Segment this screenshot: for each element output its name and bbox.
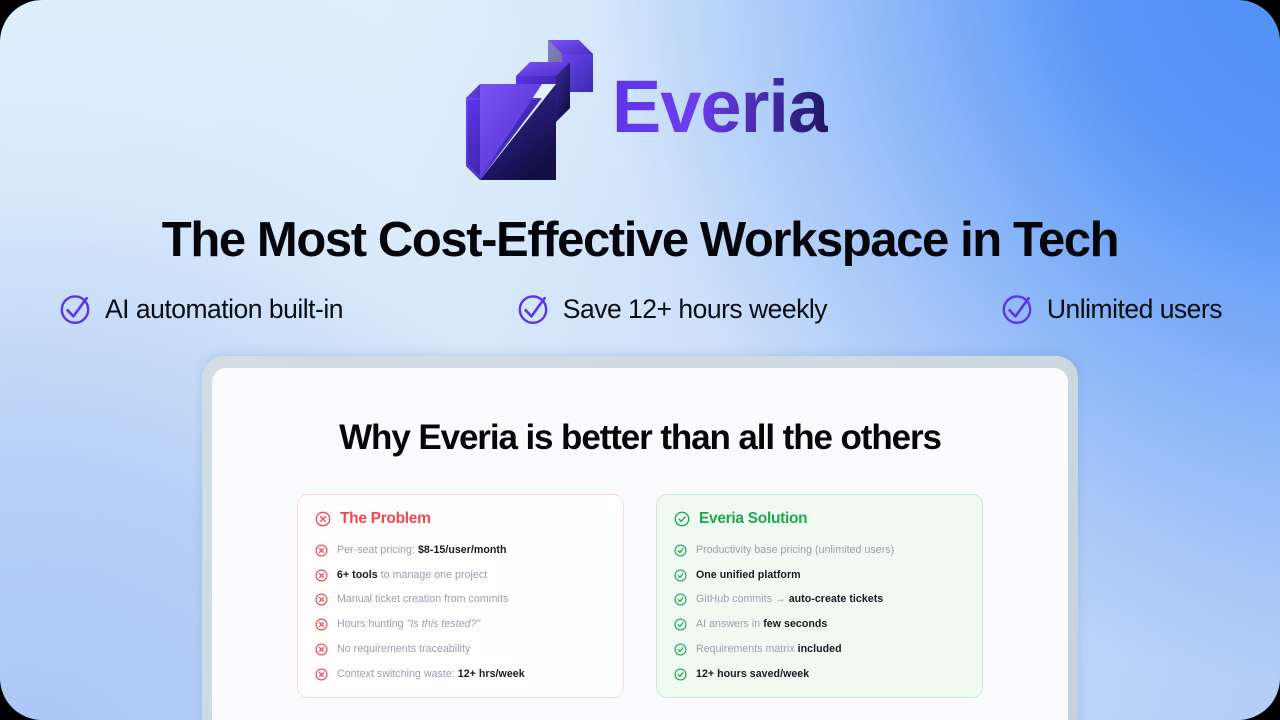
list-item-text: Requirements matrix included [696, 642, 842, 656]
brand-name: Everia [612, 70, 828, 150]
list-item-text: Hours hunting "Is this tested?" [337, 617, 480, 631]
list-item: Productivity base pricing (unlimited use… [674, 543, 965, 557]
feature-item: AI automation built-in [58, 292, 343, 326]
problem-card: The Problem Per-seat pricing: $8-15/user… [297, 494, 624, 698]
list-item-text: AI answers in few seconds [696, 617, 827, 631]
circle-x-icon [315, 668, 328, 681]
list-item-text: Manual ticket creation from commits [337, 592, 508, 606]
circle-x-icon [315, 544, 328, 557]
feature-label: Save 12+ hours weekly [563, 294, 827, 325]
list-item: Context switching waste: 12+ hrs/week [315, 667, 606, 681]
list-item: GitHub commits → auto-create tickets [674, 592, 965, 606]
panel-heading: Why Everia is better than all the others [0, 418, 1280, 458]
circle-check-icon [674, 643, 687, 656]
comparison-cards: The Problem Per-seat pricing: $8-15/user… [297, 494, 983, 698]
list-item: 6+ tools to manage one project [315, 568, 606, 582]
feature-label: AI automation built-in [105, 294, 343, 325]
list-item: No requirements traceability [315, 642, 606, 656]
solution-card-header: Everia Solution [674, 510, 965, 528]
feature-item: Unlimited users [1000, 292, 1222, 326]
promo-slide: Everia The Most Cost-Effective Workspace… [0, 0, 1280, 720]
list-item-text: 6+ tools to manage one project [337, 568, 487, 582]
list-item-text: Per-seat pricing: $8-15/user/month [337, 543, 507, 557]
page-title: The Most Cost-Effective Workspace in Tec… [0, 212, 1280, 268]
feature-list: AI automation built-in Save 12+ hours we… [58, 292, 1222, 326]
list-item: Hours hunting "Is this tested?" [315, 617, 606, 631]
list-item-text: One unified platform [696, 568, 801, 582]
list-item-text: Productivity base pricing (unlimited use… [696, 543, 894, 557]
circle-check-icon [674, 618, 687, 631]
circle-check-icon [674, 593, 687, 606]
everia-isometric-logo-icon [452, 34, 600, 186]
circle-x-icon [315, 511, 331, 527]
list-item: One unified platform [674, 568, 965, 582]
list-item: Manual ticket creation from commits [315, 592, 606, 606]
brand-lockup: Everia [0, 34, 1280, 186]
list-item: AI answers in few seconds [674, 617, 965, 631]
list-item: Per-seat pricing: $8-15/user/month [315, 543, 606, 557]
list-item: Requirements matrix included [674, 642, 965, 656]
circle-x-icon [315, 569, 328, 582]
circle-check-icon [674, 569, 687, 582]
circle-x-icon [315, 593, 328, 606]
feature-item: Save 12+ hours weekly [516, 292, 827, 326]
feature-label: Unlimited users [1047, 294, 1222, 325]
circle-x-icon [315, 643, 328, 656]
circle-x-icon [315, 618, 328, 631]
list-item-text: 12+ hours saved/week [696, 667, 809, 681]
list-item-text: No requirements traceability [337, 642, 470, 656]
problem-card-title: The Problem [340, 510, 431, 528]
circle-check-icon [1000, 292, 1034, 326]
circle-check-icon [674, 668, 687, 681]
circle-check-icon [674, 544, 687, 557]
list-item-text: Context switching waste: 12+ hrs/week [337, 667, 525, 681]
list-item-text: GitHub commits → auto-create tickets [696, 592, 883, 606]
circle-check-icon [674, 511, 690, 527]
circle-check-icon [58, 292, 92, 326]
circle-check-icon [516, 292, 550, 326]
list-item: 12+ hours saved/week [674, 667, 965, 681]
problem-card-header: The Problem [315, 510, 606, 528]
solution-card-title: Everia Solution [699, 510, 807, 528]
solution-card: Everia Solution Productivity base pricin… [656, 494, 983, 698]
